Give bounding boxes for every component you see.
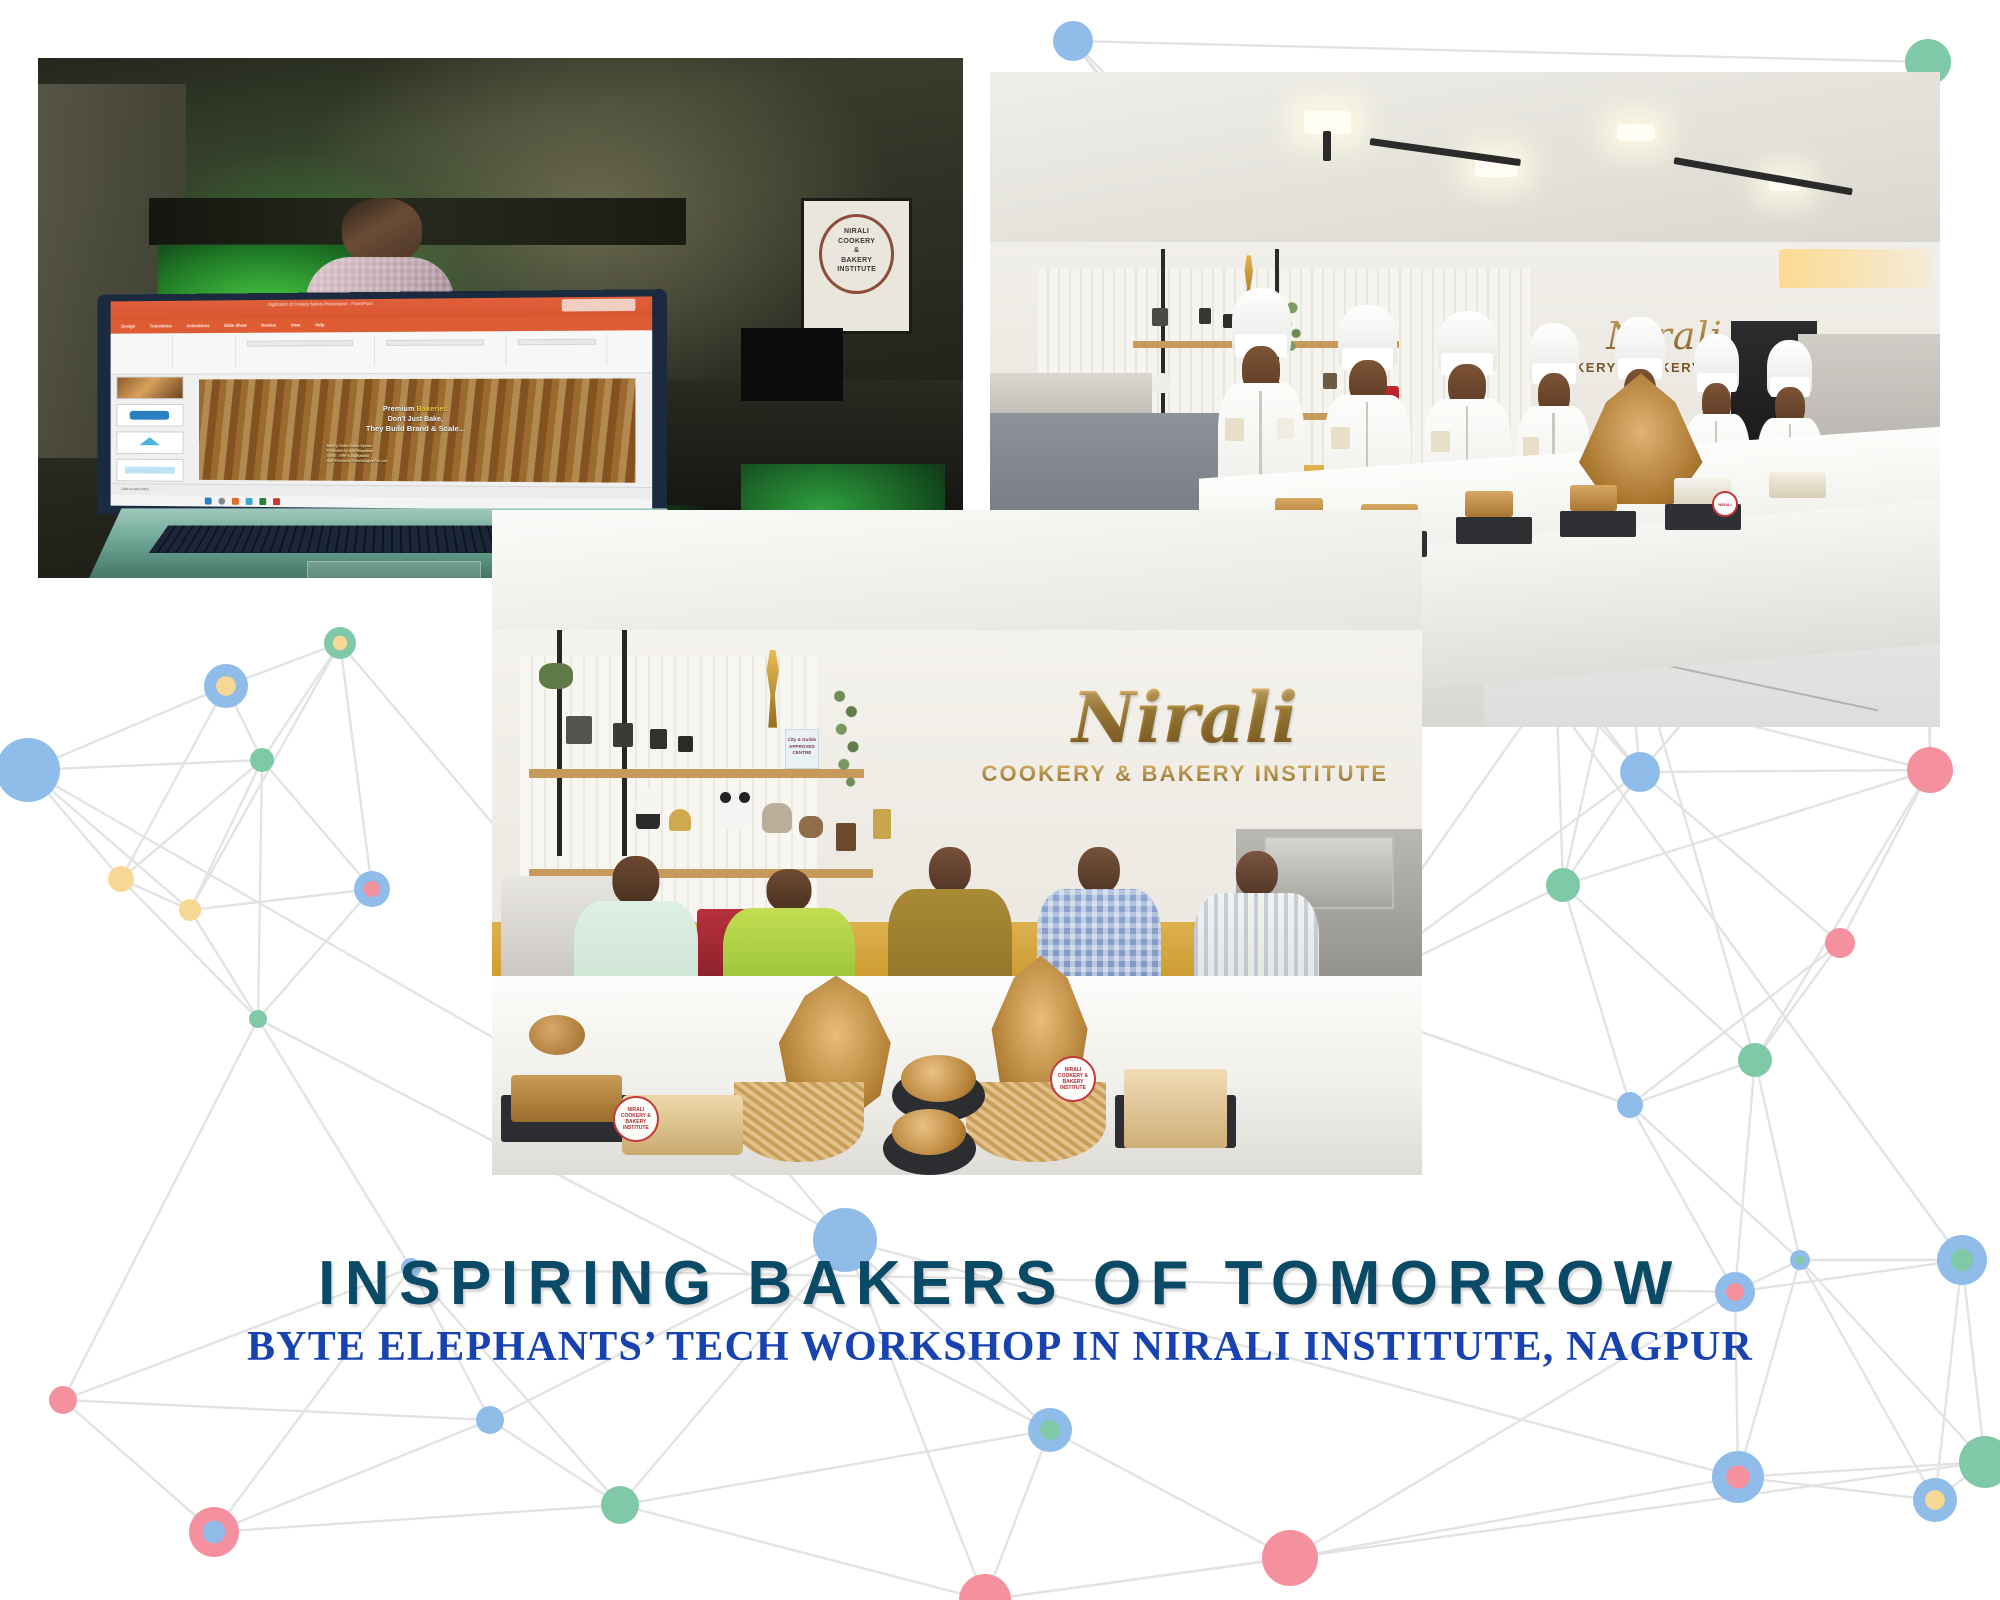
slide-thumbnail-pane[interactable] xyxy=(116,377,184,482)
shelf-lamp xyxy=(873,809,891,839)
group-photo-with-bread-display: City & Guilds APPROVED CENTRE Nirali COO… xyxy=(492,510,1422,1175)
slide-thumbnail[interactable] xyxy=(116,404,184,426)
track-light-head xyxy=(1323,131,1331,161)
powerpoint-ribbon[interactable] xyxy=(111,330,652,374)
serving-slate xyxy=(1456,517,1532,543)
shelf-pot xyxy=(1199,308,1211,324)
chef-figurine xyxy=(1152,373,1170,393)
shelf-plant xyxy=(539,663,573,689)
search-icon[interactable] xyxy=(219,498,226,505)
slide-line1-pre: Premium xyxy=(383,406,417,413)
ribbon-tab-design[interactable]: Design xyxy=(122,324,136,329)
presenter-with-laptop-photo: NIRALICOOKERY&BAKERYINSTITUTE Digitizati… xyxy=(38,58,963,578)
poster-headline: INSPIRING BAKERS OF TOMORROW xyxy=(0,1248,2000,1319)
slide-headline: Premium Bakeries Don’t Just Bake, They B… xyxy=(217,405,622,435)
shelf-pot xyxy=(650,729,667,749)
person-head xyxy=(612,856,659,906)
wall-frame-text: NIRALICOOKERY&BAKERYINSTITUTE xyxy=(804,227,909,274)
shelf-scale xyxy=(836,823,856,851)
person-head xyxy=(929,847,971,894)
slide-thumbnail[interactable] xyxy=(116,459,184,482)
wall-framed-logo: NIRALICOOKERY&BAKERYINSTITUTE xyxy=(801,198,912,333)
person-head xyxy=(1235,851,1277,897)
ribbon-tab-review[interactable]: Review xyxy=(262,323,277,328)
city-and-guilds-plaque: City & Guilds APPROVED CENTRE xyxy=(785,729,819,769)
chef-logo-patch xyxy=(1277,418,1294,439)
shelf-post xyxy=(1161,249,1165,419)
poster-headline-block: INSPIRING BAKERS OF TOMORROW BYTE ELEPHA… xyxy=(0,1248,2000,1371)
slide-subtext: Bakery Chain Dealer System Presented by … xyxy=(327,444,608,466)
display-shelf xyxy=(529,769,864,778)
ribbon-tab-animations[interactable]: Animations xyxy=(187,324,210,329)
slide-thumbnail[interactable] xyxy=(116,432,184,454)
ribbon-tab-slideshow[interactable]: Slide Show xyxy=(224,323,247,328)
ribbon-tab-transitions[interactable]: Transitions xyxy=(150,324,173,329)
ceiling-light xyxy=(1617,124,1655,141)
shelf-vase xyxy=(1152,308,1168,326)
shelf-gold-bowl xyxy=(669,809,691,831)
shelf-pot xyxy=(613,723,633,747)
ribbon-group-clipboard xyxy=(116,337,173,367)
align-controls[interactable] xyxy=(386,339,484,346)
taskbar-app-icon[interactable] xyxy=(246,498,253,505)
warm-strip-light xyxy=(1779,249,1931,288)
ribbon-tab-help[interactable]: Help xyxy=(316,323,325,328)
presenter-head xyxy=(342,198,422,264)
pastry-item xyxy=(1465,491,1513,517)
panda-figurine xyxy=(720,796,750,830)
cookie xyxy=(529,1015,585,1055)
ribbon-group-slides xyxy=(174,336,237,366)
shelf-vase xyxy=(762,803,792,833)
chef-badge xyxy=(1225,418,1244,441)
window-controls[interactable] xyxy=(562,299,635,312)
laptop-trackpad xyxy=(307,561,481,578)
slide-subtext-line: Byte Elephants Technologies Pvt. Ltd. xyxy=(327,459,608,466)
slide-line1-highlight: Bakeries xyxy=(417,406,448,413)
laptop-screen: Digitization of Cookery Bakery Presentat… xyxy=(111,296,652,511)
round-bread xyxy=(892,1109,966,1156)
cake-item xyxy=(1769,472,1826,498)
laptop-lid: Digitization of Cookery Bakery Presentat… xyxy=(98,289,668,520)
slide-line3: They Build Brand & Scale... xyxy=(217,424,622,435)
person-head xyxy=(766,869,811,912)
powerpoint-workspace: Premium Bakeries Don’t Just Bake, They B… xyxy=(111,373,652,487)
powerpoint-title-text: Digitization of Cookery Bakery Presentat… xyxy=(268,301,373,307)
taskbar-app-icon[interactable] xyxy=(274,498,281,505)
font-name-box[interactable] xyxy=(247,340,354,347)
chef-badge xyxy=(1431,431,1450,452)
slide-thumbnail[interactable] xyxy=(116,377,184,399)
brand-subtitle: COOKERY & BAKERY INSTITUTE xyxy=(976,761,1395,787)
shape-styles[interactable] xyxy=(518,338,596,345)
person-head xyxy=(1078,847,1120,894)
taskbar-app-icon[interactable] xyxy=(232,498,239,505)
round-bread xyxy=(901,1055,975,1102)
start-icon[interactable] xyxy=(205,498,212,505)
nirali-logo-badge: NIRALI COOKERY & BAKERY INSTITUTE xyxy=(613,1096,659,1142)
shelf-fruit-bowl xyxy=(799,816,823,838)
chef-badge xyxy=(1331,427,1350,449)
shelf-pitcher xyxy=(566,716,592,744)
current-slide[interactable]: Premium Bakeries Don’t Just Bake, They B… xyxy=(200,378,636,482)
nirali-logo-badge: NIRALI COOKERY & BAKERY INSTITUTE xyxy=(1050,1056,1096,1102)
sliced-loaf xyxy=(1124,1069,1226,1149)
wall-brand-sign: Nirali COOKERY & BAKERY INSTITUTE xyxy=(976,683,1395,787)
monitor xyxy=(741,328,843,401)
pastry-item xyxy=(511,1075,623,1122)
hanging-plant xyxy=(827,683,869,793)
chef-figurine xyxy=(636,789,660,829)
nirali-logo-badge: NIRALI xyxy=(1712,491,1738,517)
poster-subheadline: BYTE ELEPHANTS’ TECH WORKSHOP IN NIRALI … xyxy=(0,1323,2000,1371)
shelf-pot xyxy=(678,736,693,752)
taskbar-app-icon[interactable] xyxy=(260,498,267,505)
bread-basket xyxy=(734,1082,864,1162)
serving-slate xyxy=(1560,511,1636,537)
brand-name: Nirali xyxy=(976,683,1395,753)
ribbon-tab-view[interactable]: View xyxy=(291,323,301,328)
pastry-item xyxy=(1570,485,1618,511)
